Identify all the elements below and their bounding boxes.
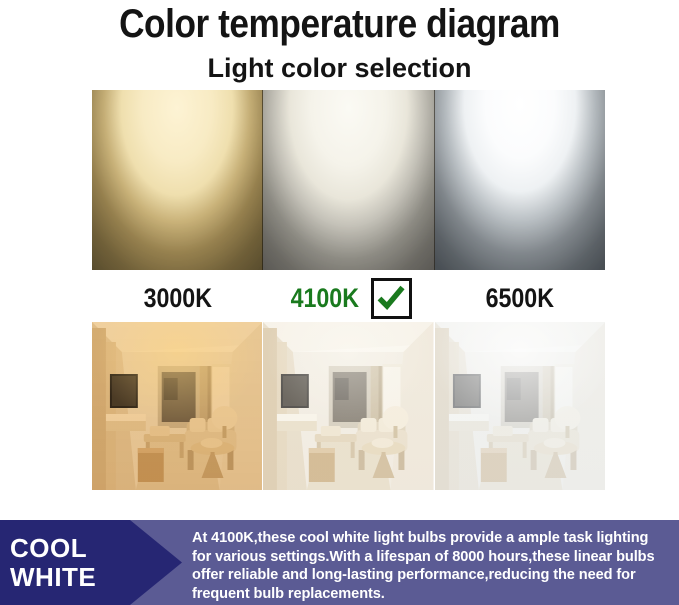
cool-white-banner: COOL WHITE At 4100K,these cool white lig… (0, 520, 679, 605)
green-checkmark-icon (376, 283, 406, 313)
room-photo-6500k[interactable] (435, 322, 605, 490)
room-interior-illustration (263, 322, 433, 490)
temperature-label-4100k: 4100K (291, 283, 359, 313)
banner-tag-line-1: COOL (10, 534, 87, 563)
temperature-label-row: 3000K 4100K 6500K (92, 276, 605, 320)
banner-tag-line-2: WHITE (10, 563, 96, 592)
page-title: Color temperature diagram (41, 2, 639, 46)
light-beam-comparison-row (92, 90, 605, 270)
temperature-option-4100k[interactable]: 4100K (263, 276, 434, 320)
room-interior-illustration (92, 322, 262, 490)
selected-checkbox[interactable] (371, 278, 412, 319)
room-interior-illustration (435, 322, 605, 490)
temperature-option-6500k[interactable]: 6500K (434, 276, 605, 320)
banner-tag-arrow: COOL WHITE (0, 520, 182, 605)
temperature-label-3000k: 3000K (143, 283, 211, 313)
temperature-option-3000k[interactable]: 3000K (92, 276, 263, 320)
room-comparison-row (92, 322, 605, 490)
temperature-label-6500k: 6500K (485, 283, 553, 313)
page-subtitle: Light color selection (0, 52, 679, 84)
light-beam-6500k[interactable] (435, 90, 605, 270)
light-beam-3000k[interactable] (92, 90, 263, 270)
room-photo-3000k[interactable] (92, 322, 263, 490)
banner-description: At 4100K,these cool white light bulbs pr… (192, 529, 668, 603)
room-photo-4100k[interactable] (263, 322, 434, 490)
light-beam-4100k[interactable] (263, 90, 434, 270)
